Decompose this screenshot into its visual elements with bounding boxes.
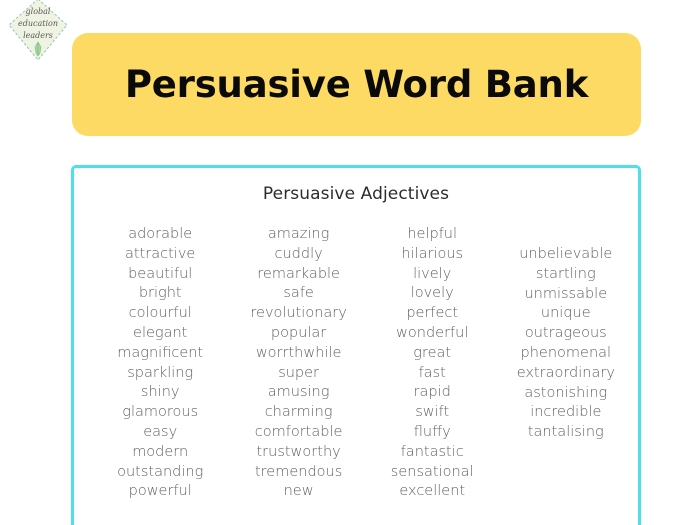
- word-item: popular: [271, 324, 326, 344]
- word-item: worrthwhile: [256, 344, 342, 364]
- word-item: phenomenal: [521, 344, 612, 364]
- word-item: colourful: [129, 304, 192, 324]
- word-item: tremendous: [255, 463, 342, 483]
- word-item: revolutionary: [250, 304, 346, 324]
- page-title: Persuasive Word Bank: [125, 66, 588, 103]
- logo-diamond-icon: global education leaders: [6, 0, 70, 62]
- title-banner: Persuasive Word Bank: [72, 33, 641, 136]
- word-item: easy: [143, 423, 177, 443]
- word-item: trustworthy: [256, 443, 340, 463]
- word-item: perfect: [406, 304, 458, 324]
- word-item: powerful: [129, 482, 192, 502]
- word-item: sensational: [391, 463, 474, 483]
- word-item: attractive: [125, 245, 195, 265]
- word-item: super: [278, 364, 319, 384]
- word-item: excellent: [399, 482, 465, 502]
- word-column-4: unbelievablestartlingunmissableuniqueout…: [494, 225, 638, 443]
- word-item: rapid: [414, 383, 451, 403]
- word-columns: adorableattractivebeautifulbrightcolourf…: [74, 225, 638, 502]
- word-item: hilarious: [401, 245, 463, 265]
- word-item: unmissable: [524, 285, 607, 305]
- word-item: shiny: [141, 383, 180, 403]
- logo-line-3: leaders: [23, 31, 53, 40]
- word-column-3: helpfulhilariouslivelylovelyperfectwonde…: [365, 225, 500, 502]
- word-column-1: adorableattractivebeautifulbrightcolourf…: [88, 225, 232, 502]
- word-item: helpful: [407, 225, 457, 245]
- word-item: swift: [415, 403, 449, 423]
- word-item: sparkling: [127, 364, 193, 384]
- word-item: beautiful: [128, 265, 192, 285]
- word-item: bright: [139, 284, 182, 304]
- word-item: charming: [265, 403, 333, 423]
- word-item: lively: [413, 265, 451, 285]
- word-item: elegant: [133, 324, 187, 344]
- word-item: comfortable: [255, 423, 343, 443]
- logo-line-2: education: [18, 19, 58, 28]
- word-item: extraordinary: [517, 364, 615, 384]
- logo-line-1: global: [26, 7, 51, 16]
- word-item: astonishing: [524, 384, 607, 404]
- word-item: tantalising: [528, 423, 604, 443]
- word-item: great: [413, 344, 451, 364]
- word-item: safe: [283, 284, 313, 304]
- word-item: amazing: [268, 225, 329, 245]
- word-item: remarkable: [257, 265, 340, 285]
- word-item: modern: [132, 443, 188, 463]
- word-item: outrageous: [525, 324, 607, 344]
- global-education-leaders-logo: global education leaders: [6, 0, 70, 62]
- word-item: wonderful: [396, 324, 468, 344]
- word-item: lovely: [411, 284, 454, 304]
- word-item: fantastic: [401, 443, 464, 463]
- word-item: fast: [419, 364, 446, 384]
- word-item: adorable: [128, 225, 192, 245]
- word-item: fluffy: [414, 423, 451, 443]
- word-item: magnificent: [117, 344, 203, 364]
- word-item: new: [284, 482, 314, 502]
- panel-heading: Persuasive Adjectives: [74, 168, 638, 204]
- word-item: amusing: [268, 383, 330, 403]
- word-item: incredible: [530, 403, 601, 423]
- word-item: unique: [541, 304, 591, 324]
- persuasive-adjectives-panel: Persuasive Adjectives adorableattractive…: [71, 165, 641, 525]
- word-item: unbelievable: [519, 245, 612, 265]
- word-column-2: amazingcuddlyremarkablesaferevolutionary…: [226, 225, 370, 502]
- word-item: cuddly: [275, 245, 323, 265]
- word-item: outstanding: [117, 463, 203, 483]
- word-item: glamorous: [122, 403, 198, 423]
- word-item: startling: [536, 265, 596, 285]
